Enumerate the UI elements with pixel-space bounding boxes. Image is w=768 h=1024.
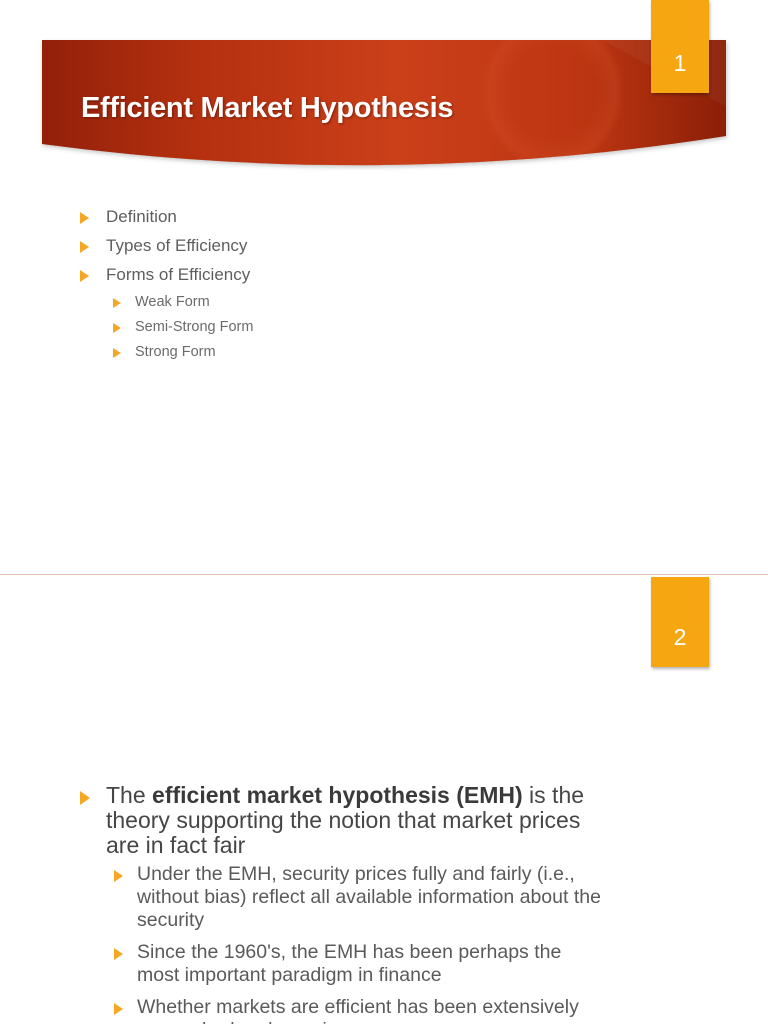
bullet-triangle-icon xyxy=(80,212,89,224)
list-item: Types of Efficiency xyxy=(0,235,768,256)
list-item-label: Forms of Efficiency xyxy=(106,264,250,285)
list-item: Weak Form xyxy=(0,293,768,311)
list-item-label: Semi-Strong Form xyxy=(135,318,253,336)
slide-1-title: Efficient Market Hypothesis xyxy=(81,92,453,125)
list-item: The efficient market hypothesis (EMH) is… xyxy=(0,783,768,858)
slide-1: Efficient Market Hypothesis 1 Definition… xyxy=(0,0,768,574)
list-item-label: Types of Efficiency xyxy=(106,235,247,256)
list-item: Definition xyxy=(0,206,768,227)
bullet-triangle-icon xyxy=(80,270,89,282)
list-item-truncated: Whether markets are efficient has been e… xyxy=(0,996,768,1024)
bullet-triangle-icon xyxy=(80,241,89,253)
slide-1-title-banner: Efficient Market Hypothesis xyxy=(42,40,726,175)
bullet-triangle-icon xyxy=(113,323,121,333)
slide-2-page-number: 2 xyxy=(651,626,709,649)
slide-2: Definition 2 The efficient market hypoth… xyxy=(0,575,768,1024)
list-item-label: Strong Form xyxy=(135,343,216,361)
slide-2-page-tab: 2 xyxy=(651,577,709,667)
list-item: Semi-Strong Form xyxy=(0,318,768,336)
list-item-label: Since the 1960's, the EMH has been perha… xyxy=(137,941,607,987)
list-item: Since the 1960's, the EMH has been perha… xyxy=(0,941,768,987)
bullet-triangle-icon xyxy=(114,1003,123,1015)
list-item-label: The efficient market hypothesis (EMH) is… xyxy=(106,783,601,858)
list-item: Forms of Efficiency xyxy=(0,264,768,285)
list-item: Under the EMH, security prices fully and… xyxy=(0,863,768,932)
bullet-triangle-icon xyxy=(114,948,123,960)
list-item-label: Definition xyxy=(106,206,177,227)
slide-1-page-number: 1 xyxy=(651,52,709,75)
bullet-triangle-icon xyxy=(80,791,90,805)
slide-1-page-tab: 1 xyxy=(651,0,709,93)
slide-1-content: Definition Types of Efficiency Forms of … xyxy=(0,206,768,368)
list-item: Strong Form xyxy=(0,343,768,361)
slide-2-content: The efficient market hypothesis (EMH) is… xyxy=(0,783,768,1024)
list-item-label: Under the EMH, security prices fully and… xyxy=(137,863,607,932)
bullet-triangle-icon xyxy=(113,298,121,308)
list-item-label: Weak Form xyxy=(135,293,210,311)
bullet-triangle-icon xyxy=(113,348,121,358)
bullet-triangle-icon xyxy=(114,870,123,882)
list-item-label: Whether markets are efficient has been e… xyxy=(137,996,607,1024)
